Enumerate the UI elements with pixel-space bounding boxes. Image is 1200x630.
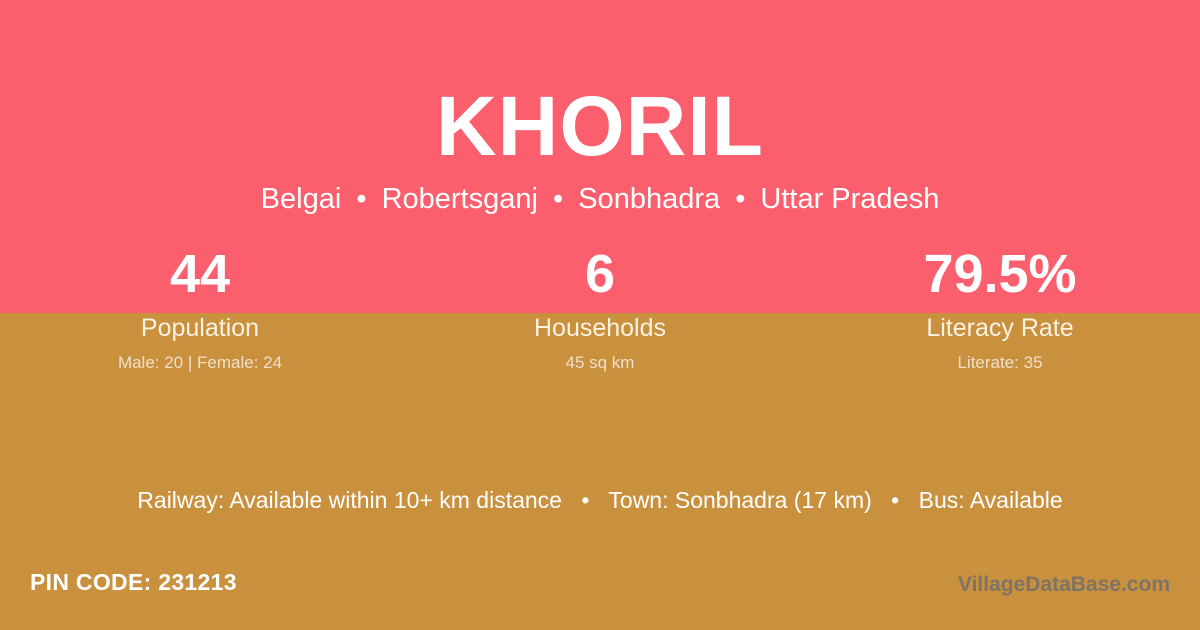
stat-label: Households: [400, 313, 800, 343]
stat-households: 6 Households 45 sq km: [400, 244, 800, 374]
card-footer: PIN CODE: 231213 VillageDataBase.com: [0, 554, 1200, 630]
stats-row: 44 Population Male: 20 | Female: 24 6 Ho…: [0, 244, 1200, 374]
stat-value: 44: [0, 244, 400, 304]
breadcrumb-item-state: Uttar Pradesh: [760, 183, 939, 215]
stat-value: 79.5%: [800, 244, 1200, 304]
stat-label: Population: [0, 313, 400, 343]
breadcrumb-item-block: Belgai: [261, 183, 342, 215]
breadcrumb-separator: •: [728, 183, 752, 215]
breadcrumb-separator: •: [349, 183, 373, 215]
amenity-town: Town: Sonbhadra (17 km): [608, 487, 871, 513]
stat-sublabel: Male: 20 | Female: 24: [0, 352, 400, 374]
stat-label: Literacy Rate: [800, 313, 1200, 343]
stat-sublabel: 45 sq km: [400, 352, 800, 374]
amenity-railway: Railway: Available within 10+ km distanc…: [137, 487, 562, 513]
breadcrumb-separator: •: [546, 183, 570, 215]
pin-code: PIN CODE: 231213: [30, 568, 237, 596]
breadcrumb-item-district: Sonbhadra: [578, 183, 720, 215]
amenity-separator: •: [568, 487, 602, 513]
stat-literacy-rate: 79.5% Literacy Rate Literate: 35: [800, 244, 1200, 374]
village-info-card: KHORIL Belgai • Robertsganj • Sonbhadra …: [0, 0, 1200, 630]
site-watermark: VillageDataBase.com: [958, 572, 1170, 598]
breadcrumb: Belgai • Robertsganj • Sonbhadra • Uttar…: [0, 181, 1200, 217]
amenity-bus: Bus: Available: [919, 487, 1063, 513]
stat-sublabel: Literate: 35: [800, 352, 1200, 374]
stat-population: 44 Population Male: 20 | Female: 24: [0, 244, 400, 374]
amenity-separator: •: [878, 487, 912, 513]
stat-value: 6: [400, 244, 800, 304]
page-title: KHORIL: [0, 84, 1200, 168]
breadcrumb-item-tehsil: Robertsganj: [382, 183, 538, 215]
amenities-line: Railway: Available within 10+ km distanc…: [0, 484, 1200, 516]
